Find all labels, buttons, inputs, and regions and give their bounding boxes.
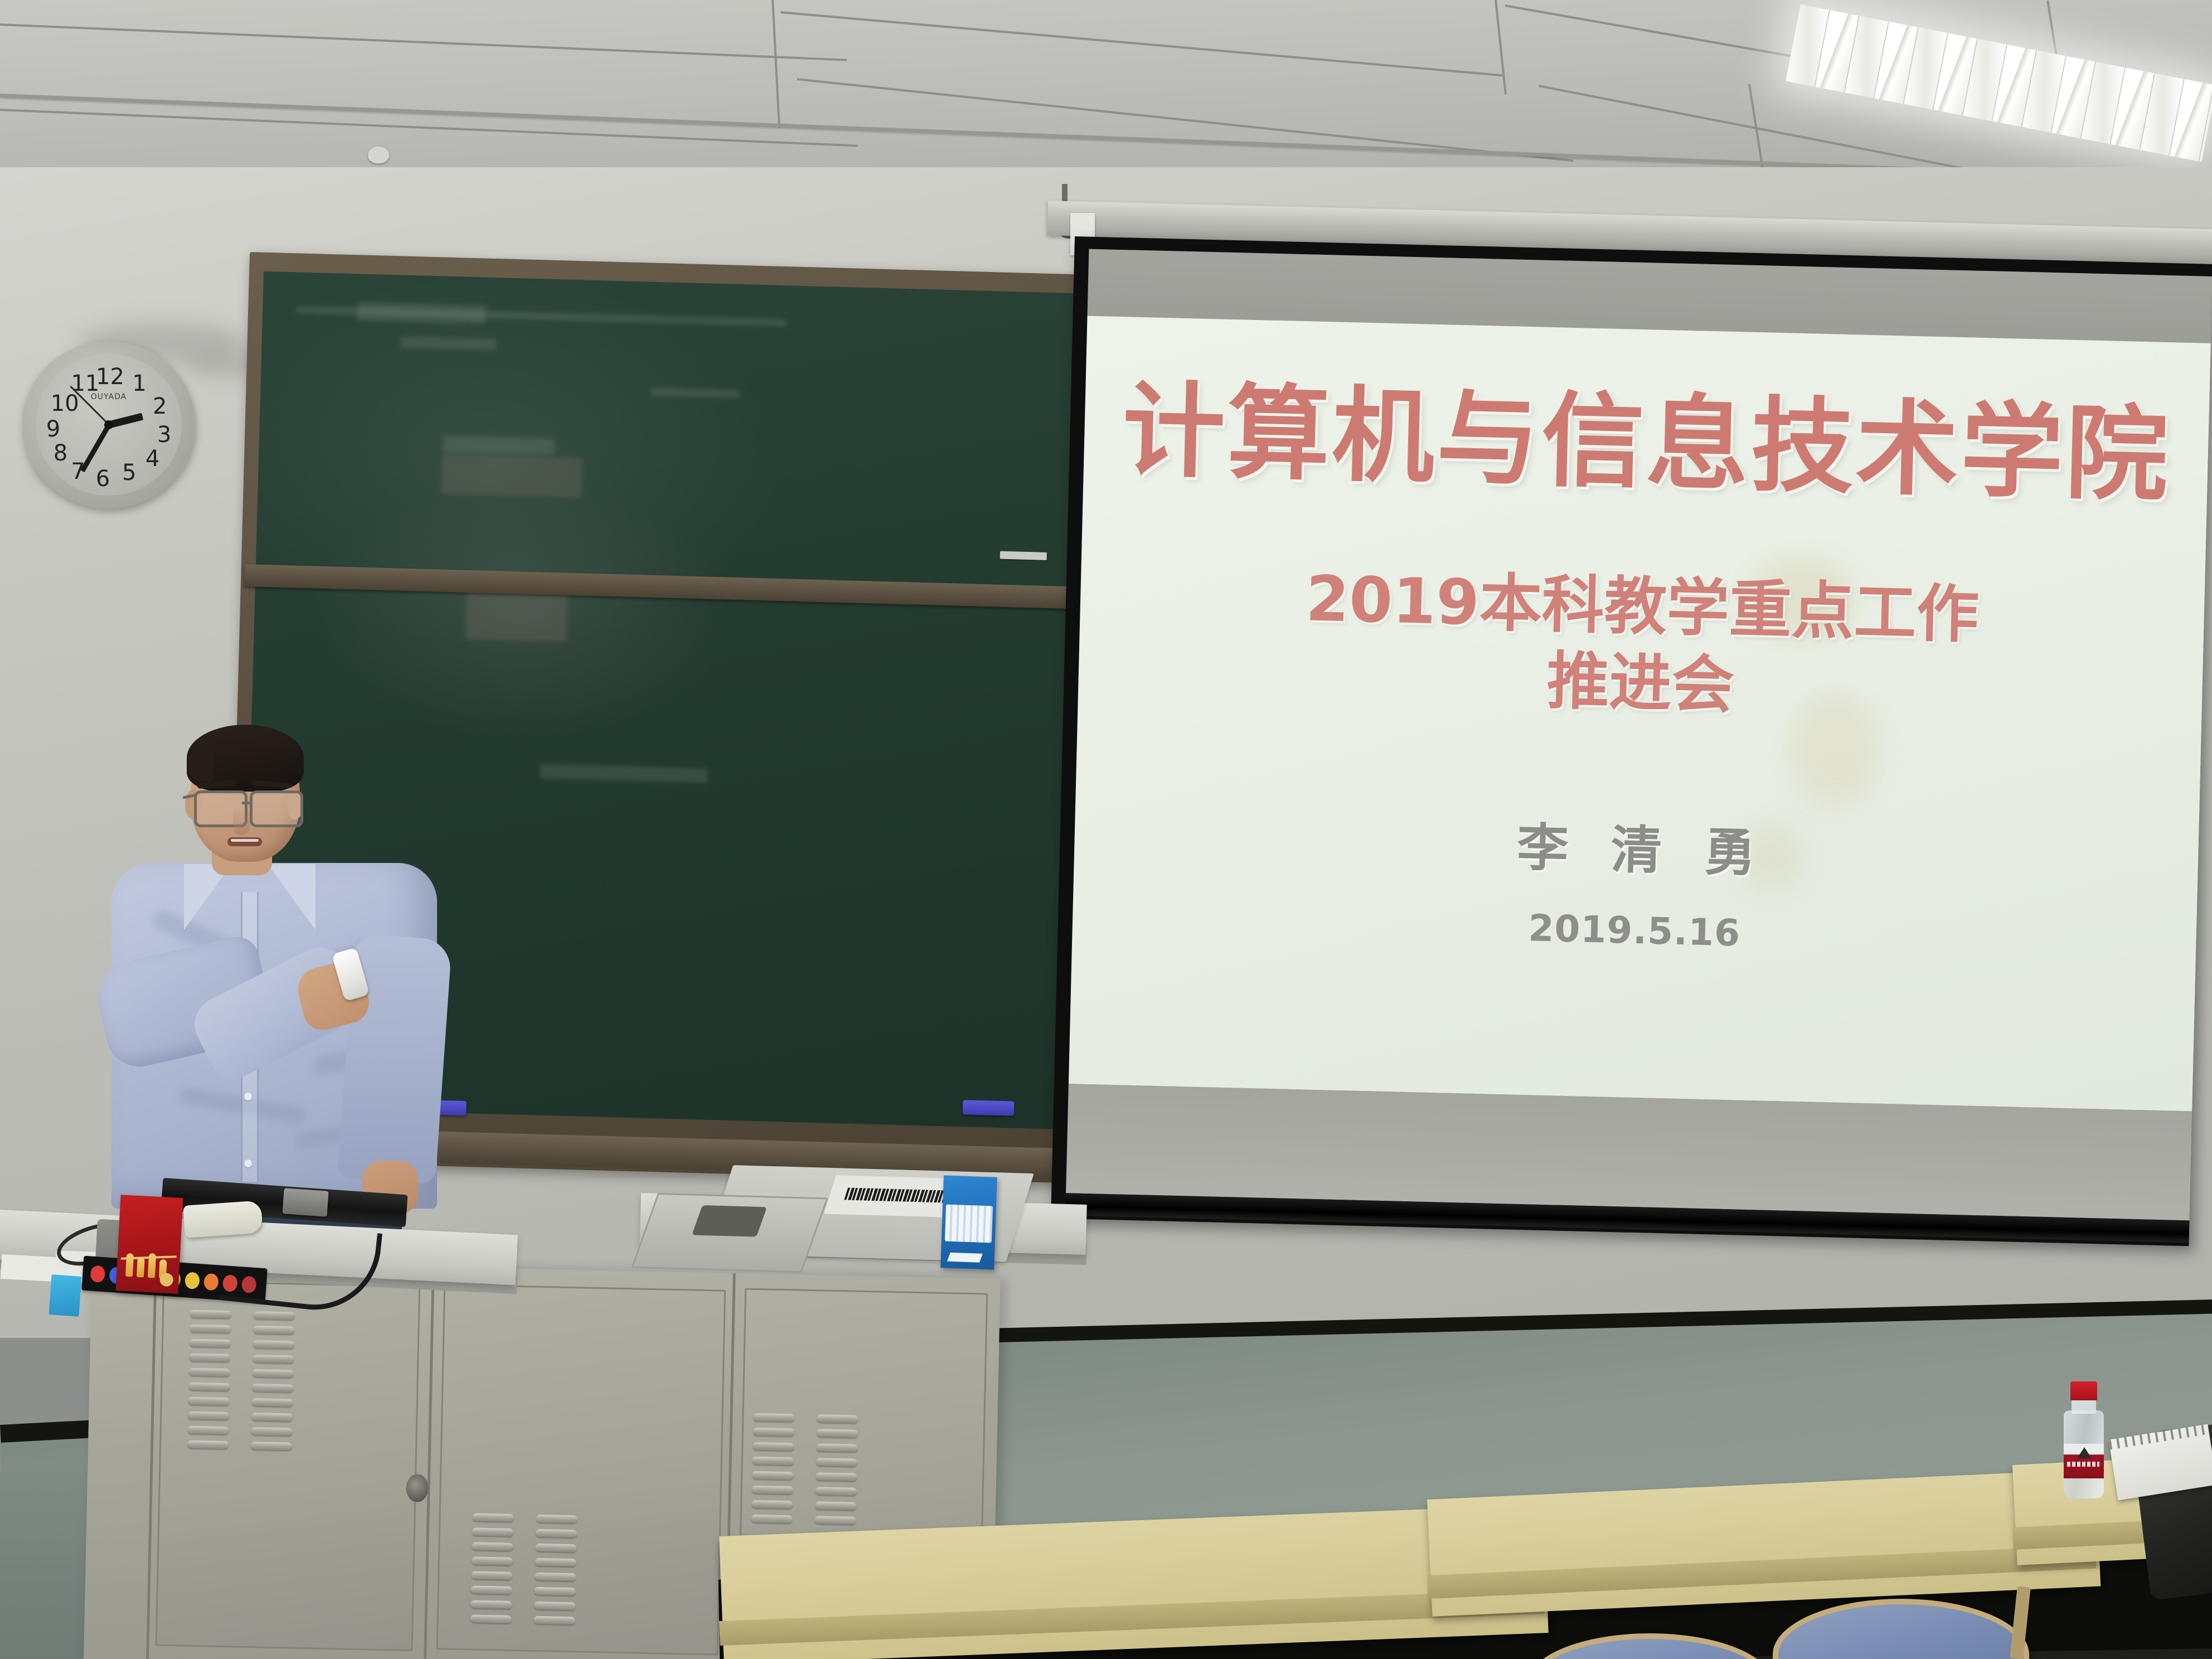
podium-lock-icon[interactable] (406, 1474, 429, 1502)
red-gift-box (116, 1195, 183, 1294)
clock-numeral-5: 5 (117, 462, 142, 484)
presenter-hair (187, 725, 304, 792)
bottle-label-text (2067, 1462, 2099, 1467)
ceiling (0, 0, 2212, 184)
eyeglasses-bridge (242, 802, 252, 804)
clock-numeral-6: 6 (90, 468, 116, 490)
presenter-mouth (227, 837, 262, 846)
blue-card (49, 1274, 82, 1317)
wall-clock: OUYADA 12 1 2 3 4 5 6 7 8 9 10 11 (22, 341, 195, 508)
water-bottle[interactable] (2063, 1381, 2105, 1498)
presenter-shirt-button-3 (244, 1093, 252, 1100)
bottle-cap (2070, 1381, 2097, 1400)
clock-numeral-2: 2 (147, 395, 173, 418)
podium-vent-3 (470, 1513, 513, 1631)
ceiling-light-fixture (1786, 4, 2212, 162)
presenter-collar-right (268, 864, 316, 930)
classroom-scene: OUYADA 12 1 2 3 4 5 6 7 8 9 10 11 (0, 0, 2212, 1659)
av-console-tray-opening (692, 1205, 767, 1237)
ceiling-sensor-icon (368, 147, 389, 163)
presenter-belt-buckle (282, 1188, 328, 1216)
podium-vent-5 (751, 1413, 794, 1531)
clock-numeral-4: 4 (140, 448, 166, 470)
slide-title: 计算机与信息技术学院 (1083, 379, 2209, 508)
projection-screen: 计算机与信息技术学院 2019本科教学重点工作 推进会 李 清 勇 2019.5… (1051, 236, 2212, 1246)
eyeglasses-lens-right (250, 790, 303, 827)
podium-vent-2 (251, 1311, 295, 1457)
clock-numeral-8: 8 (48, 442, 74, 464)
presenter-shirt-button-4 (244, 1160, 252, 1167)
podium-vent-6 (814, 1414, 858, 1532)
screen-surface: 计算机与信息技术学院 2019本科教学重点工作 推进会 李 清 勇 2019.5… (1066, 249, 2212, 1221)
slide-date: 2019.5.16 (1072, 895, 2196, 966)
clock-numeral-1: 1 (127, 372, 152, 395)
presenter-person (100, 725, 457, 1260)
chalkboard-clip-icon (1000, 551, 1047, 560)
chalkboard-eraser-2[interactable] (963, 1100, 1015, 1115)
podium-vent-4 (533, 1515, 577, 1633)
podium-vent-1 (187, 1310, 231, 1456)
clock-numeral-3: 3 (152, 424, 177, 446)
clock-numeral-12: 12 (96, 366, 122, 388)
presentation-slide: 计算机与信息技术学院 2019本科教学重点工作 推进会 李 清 勇 2019.5… (1069, 316, 2211, 1112)
clock-center-pin (104, 420, 113, 429)
clock-numeral-9: 9 (40, 418, 66, 440)
slide-subtitle: 2019本科教学重点工作 推进会 (1078, 555, 2205, 735)
bottle-logo-icon (2077, 1447, 2092, 1458)
slide-presenter-name: 李 清 勇 (1074, 795, 2199, 896)
blue-product-box (940, 1175, 997, 1269)
presenter-nose (233, 808, 250, 835)
clock-minute-hand (80, 424, 111, 473)
clock-face: OUYADA 12 1 2 3 4 5 6 7 8 9 10 11 (36, 354, 182, 496)
clock-hour-hand (108, 413, 143, 429)
bottle-neck (2072, 1399, 2096, 1414)
